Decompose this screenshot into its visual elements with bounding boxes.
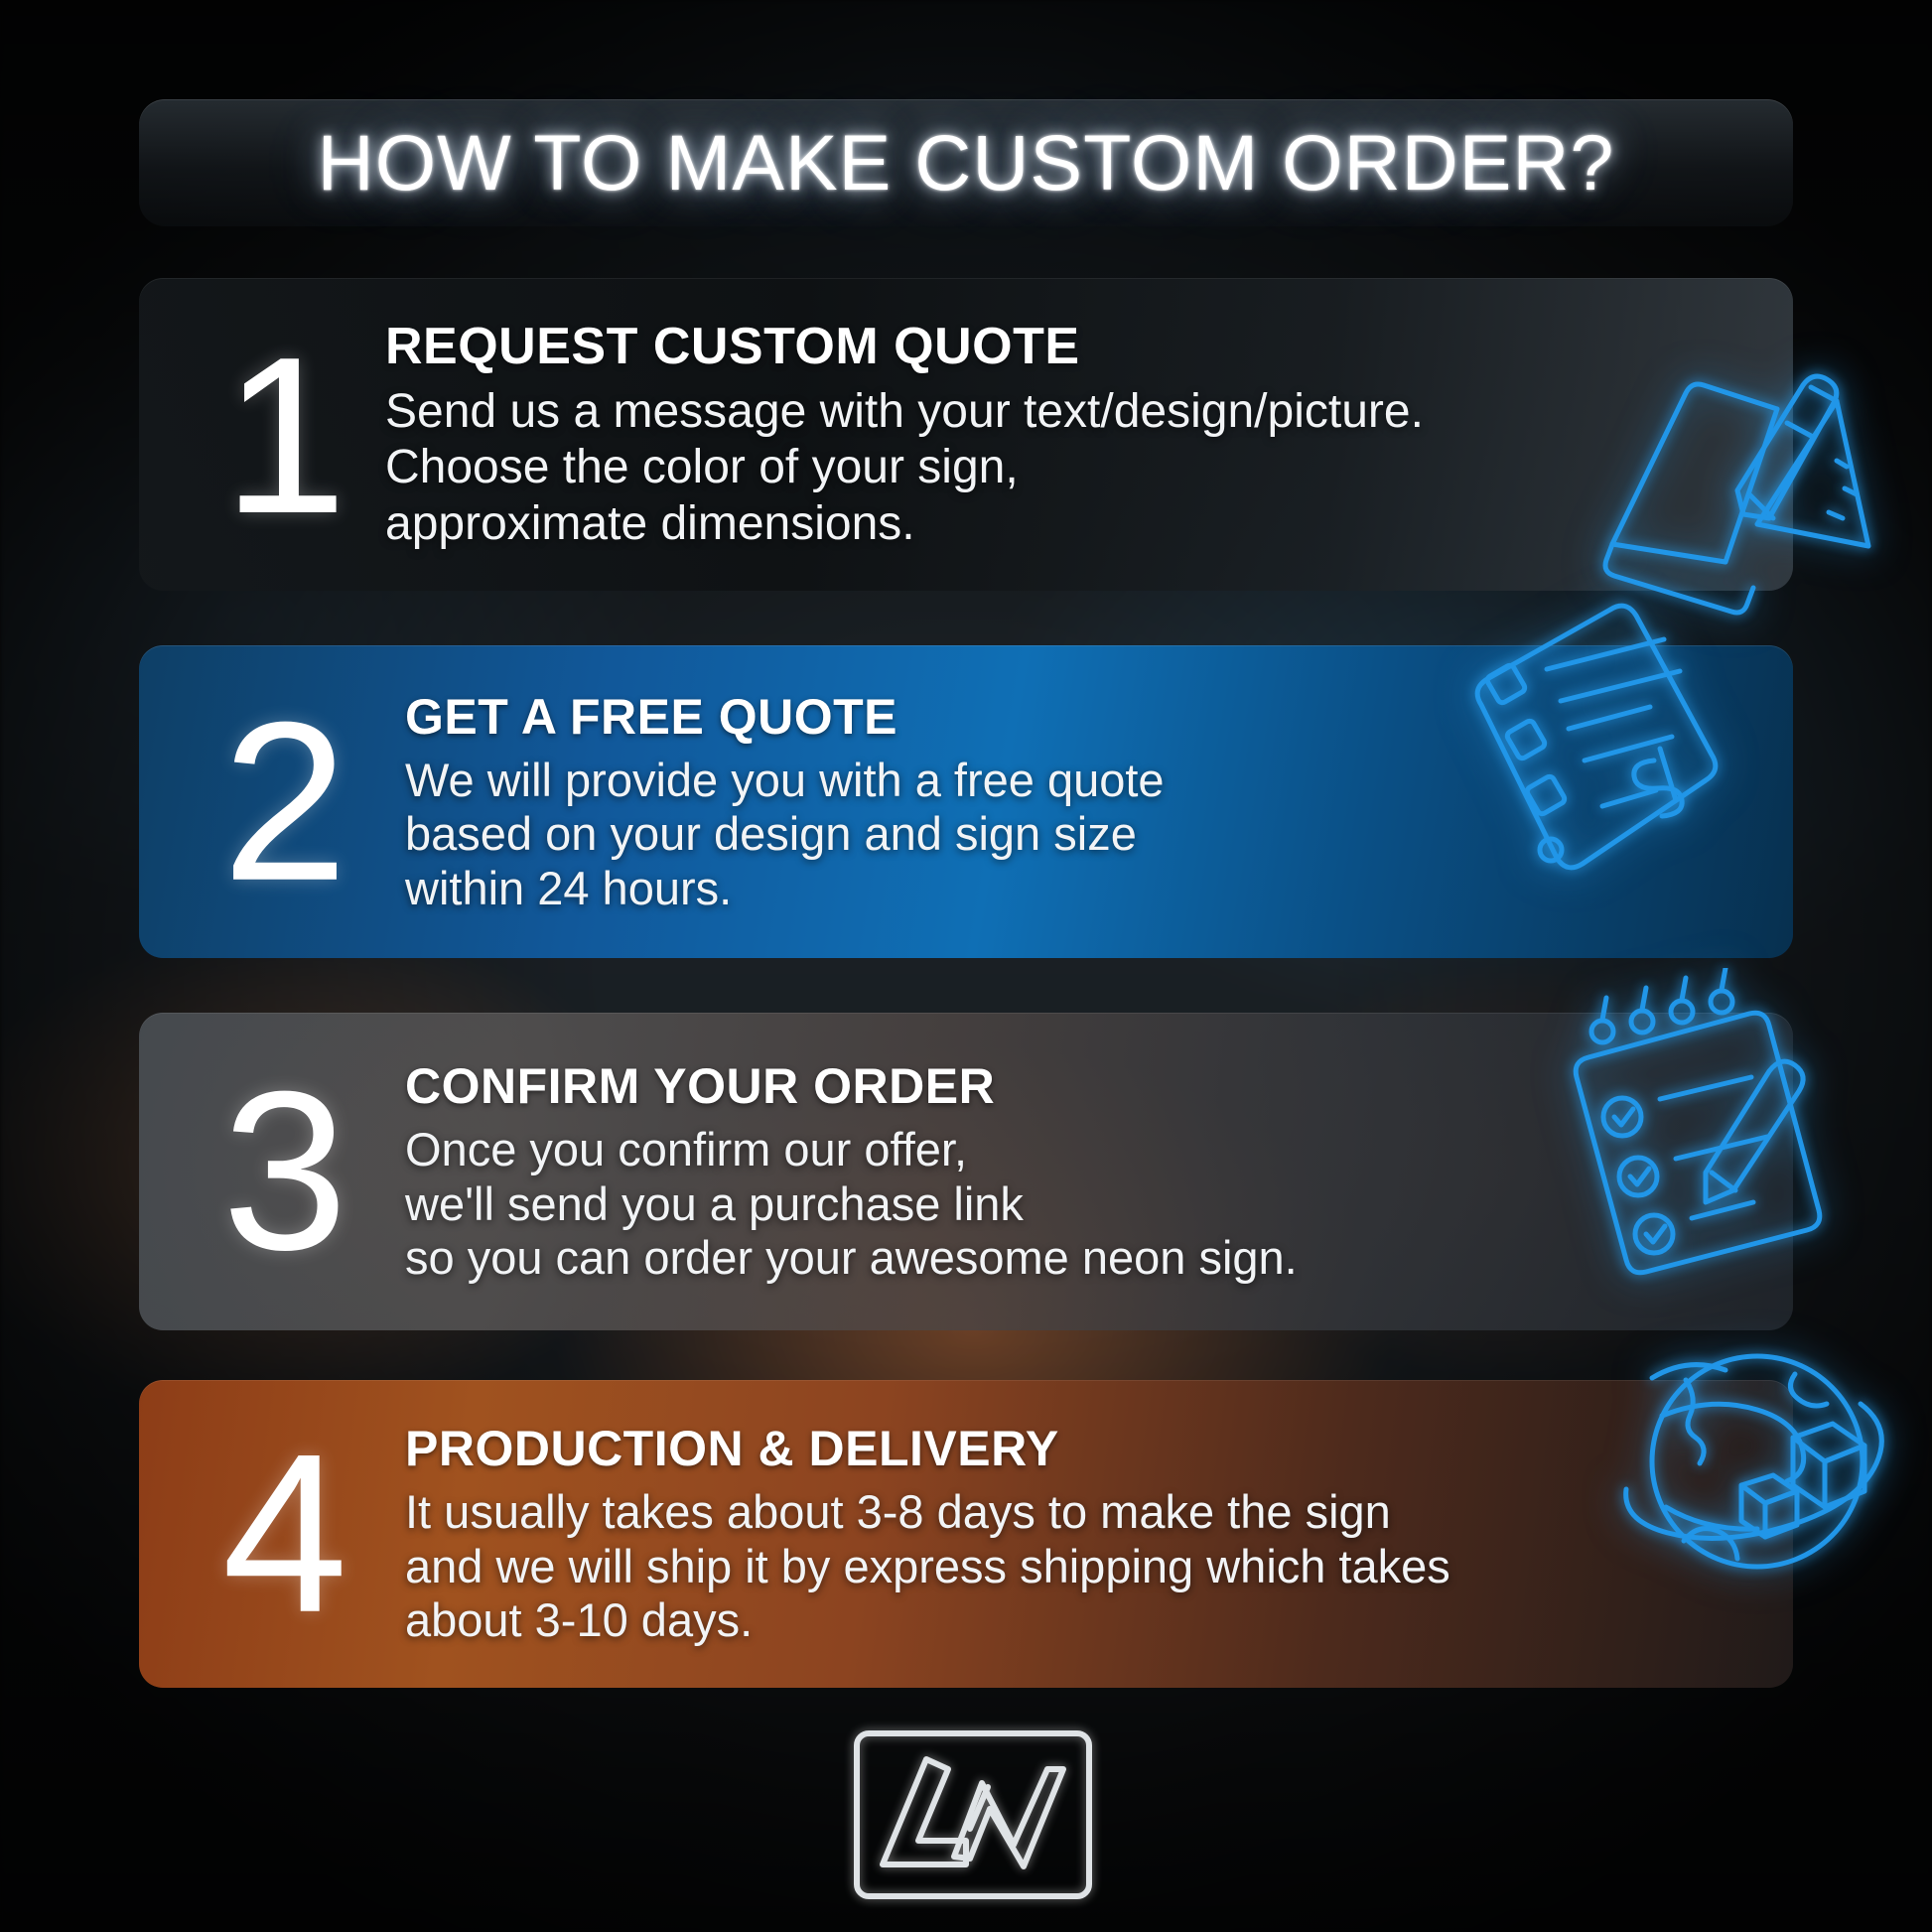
step-body-1: REQUEST CUSTOM QUOTE Send us a message w… <box>385 278 1753 591</box>
invoice-dollar-icon <box>1430 596 1727 923</box>
page-title: HOW TO MAKE CUSTOM ORDER? <box>139 117 1793 208</box>
step-number-3: 3 <box>189 1081 377 1262</box>
drafting-pencil-ruler-icon <box>1577 349 1894 637</box>
step-heading-1: REQUEST CUSTOM QUOTE <box>385 317 1753 376</box>
step-description-4: It usually takes about 3-8 days to make … <box>405 1485 1753 1648</box>
globe-shipping-icon <box>1618 1330 1896 1598</box>
step-number-2: 2 <box>189 711 377 892</box>
step-heading-4: PRODUCTION & DELIVERY <box>405 1420 1753 1477</box>
title-banner: HOW TO MAKE CUSTOM ORDER? <box>139 99 1793 226</box>
ln-monogram-logo <box>849 1725 1097 1904</box>
step-description-1: Send us a message with your text/design/… <box>385 384 1753 551</box>
step-card-4: 4 PRODUCTION & DELIVERY It usually takes… <box>139 1380 1793 1688</box>
infographic-page: HOW TO MAKE CUSTOM ORDER? 1 REQUEST CUST… <box>0 0 1932 1932</box>
step-body-4: PRODUCTION & DELIVERY It usually takes a… <box>405 1380 1753 1688</box>
step-card-1: 1 REQUEST CUSTOM QUOTE Send us a message… <box>139 278 1793 591</box>
step-number-1: 1 <box>189 345 377 524</box>
step-number-4: 4 <box>189 1444 377 1624</box>
checklist-clipboard-pen-icon <box>1537 968 1835 1296</box>
